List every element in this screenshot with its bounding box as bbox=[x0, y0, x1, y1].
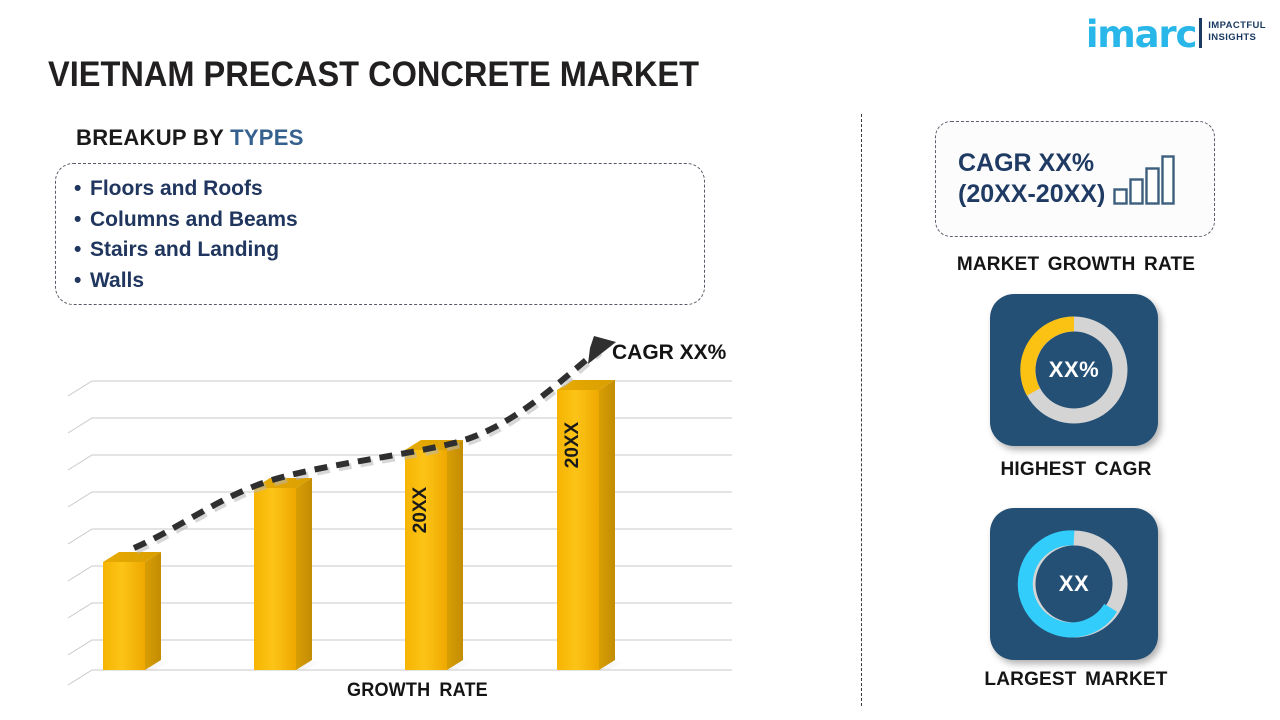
chart-gridlines bbox=[68, 381, 732, 685]
donut-center-value: XX bbox=[1059, 571, 1089, 597]
chart-bar bbox=[254, 478, 312, 670]
logo-wordmark: imarc bbox=[1086, 16, 1196, 53]
chart-bar bbox=[103, 552, 161, 670]
breakup-types-list: Floors and Roofs Columns and Beams Stair… bbox=[56, 164, 704, 296]
imarc-logo: imarc IMPACTFUL INSIGHTS bbox=[1086, 12, 1266, 52]
cagr-box-text: CAGR XX% (20XX-20XX) bbox=[958, 148, 1105, 210]
logo-divider bbox=[1199, 18, 1202, 48]
breakup-heading: BREAKUP BY TYPES bbox=[76, 125, 304, 151]
donut-center-value: XX% bbox=[1049, 357, 1099, 383]
highest-cagr-donut-card: XX% bbox=[990, 294, 1158, 446]
chart-trend-line bbox=[134, 336, 616, 551]
bar-label: 20XX bbox=[410, 486, 431, 533]
largest-market-donut-card: XX bbox=[990, 508, 1158, 660]
growth-rate-bar-chart: 20XX 20XX bbox=[60, 330, 760, 710]
list-item: Columns and Beams bbox=[74, 205, 704, 236]
vertical-divider bbox=[861, 114, 862, 706]
chart-cagr-label: CAGR XX% bbox=[612, 341, 726, 365]
caption-market-growth-rate: MARKET GROWTH RATE bbox=[935, 254, 1217, 276]
logo-tagline-line1: IMPACTFUL bbox=[1208, 20, 1266, 32]
caption-largest-market: LARGEST MARKET bbox=[935, 669, 1217, 691]
caption-highest-cagr: HIGHEST CAGR bbox=[935, 459, 1217, 481]
breakup-types-box: Floors and Roofs Columns and Beams Stair… bbox=[55, 163, 705, 305]
chart-bar: 20XX bbox=[405, 440, 463, 670]
chart-axis-label: GROWTH RATE bbox=[347, 680, 488, 702]
logo-tagline: IMPACTFUL INSIGHTS bbox=[1208, 20, 1266, 44]
cagr-box-line1: CAGR XX% bbox=[958, 148, 1105, 179]
bar-label: 20XX bbox=[562, 421, 583, 468]
chart-bar: 20XX bbox=[557, 380, 615, 670]
bar-growth-icon bbox=[1113, 155, 1175, 210]
chart-svg: 20XX 20XX bbox=[60, 330, 760, 710]
list-item: Floors and Roofs bbox=[74, 174, 704, 205]
chart-bar-shadows bbox=[103, 661, 626, 670]
breakup-heading-accent: TYPES bbox=[230, 125, 304, 150]
list-item: Stairs and Landing bbox=[74, 235, 704, 266]
slide-canvas: imarc IMPACTFUL INSIGHTS VIETNAM PRECAST… bbox=[0, 0, 1280, 720]
cagr-box-line2: (20XX-20XX) bbox=[958, 179, 1105, 210]
logo-tagline-line2: INSIGHTS bbox=[1208, 32, 1266, 44]
breakup-heading-prefix: BREAKUP BY bbox=[76, 125, 230, 150]
list-item: Walls bbox=[74, 266, 704, 297]
page-title: VIETNAM PRECAST CONCRETE MARKET bbox=[48, 55, 699, 95]
market-growth-rate-box: CAGR XX% (20XX-20XX) bbox=[935, 121, 1215, 237]
